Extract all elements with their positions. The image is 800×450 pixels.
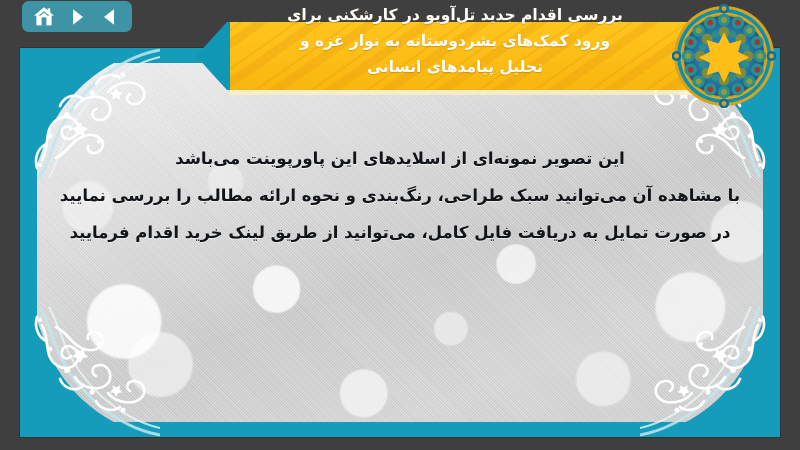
slide-navigation-bar	[22, 1, 132, 32]
slide-body-line: در صورت تمایل به دریافت فایل کامل، می‌تو…	[50, 214, 750, 251]
slide-frame[interactable]: این تصویر نمونه‌ای از اسلایدهای این پاور…	[20, 48, 780, 437]
slide-body-line: این تصویر نمونه‌ای از اسلایدهای این پاور…	[50, 140, 750, 177]
home-icon	[33, 6, 55, 27]
next-slide-button[interactable]	[64, 5, 90, 29]
slide-body-line: با مشاهده آن می‌توانید سبک طراحی، رنگ‌بن…	[50, 177, 750, 214]
home-button[interactable]	[31, 5, 57, 29]
triangle-left-icon	[100, 7, 120, 27]
slide-body-text: این تصویر نمونه‌ای از اسلایدهای این پاور…	[50, 140, 750, 251]
triangle-right-icon	[67, 7, 87, 27]
slide-title-line: بررسی اقدام جدید تل‌آویو در کارشکنی برای	[240, 2, 670, 28]
previous-slide-button[interactable]	[97, 5, 123, 29]
slide-viewer: این تصویر نمونه‌ای از اسلایدهای این پاور…	[0, 0, 800, 450]
